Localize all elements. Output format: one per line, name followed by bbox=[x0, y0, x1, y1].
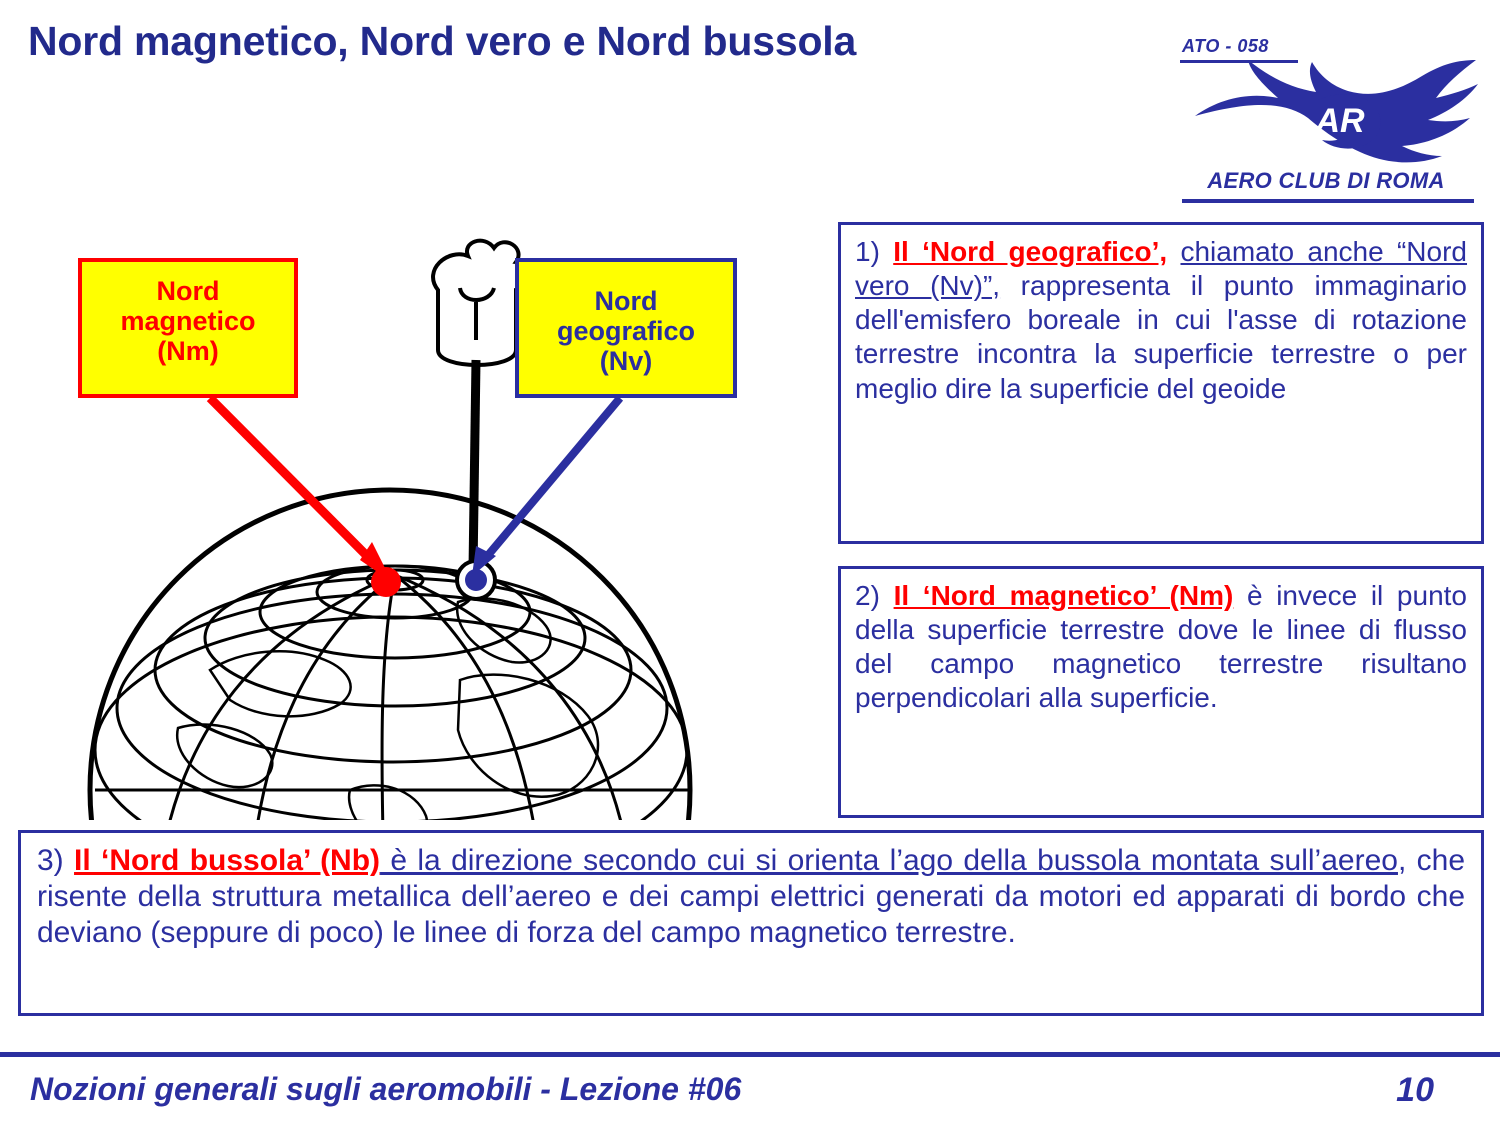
globe-diagram: Nord magnetico (Nm) Nord geografico (Nv) bbox=[60, 230, 820, 820]
pointer-geographic bbox=[472, 398, 620, 576]
logo-block: ATO - 058 AR AERO CLUB DI ROMA bbox=[1172, 18, 1482, 208]
slide: Nord magnetico, Nord vero e Nord bussola… bbox=[0, 0, 1500, 1125]
logo-rule bbox=[1182, 199, 1474, 203]
textbox-3-paragraph: 3) Il ‘Nord bussola’ (Nb) è la direzione… bbox=[37, 843, 1465, 951]
textbox-1-highlight: Il ‘Nord geografico’, bbox=[893, 236, 1167, 267]
footer: Nozioni generali sugli aeromobili - Lezi… bbox=[0, 1052, 1500, 1125]
svg-text:AR: AR bbox=[1314, 102, 1365, 140]
callout-nv-line1: Nord bbox=[519, 286, 733, 316]
callout-nm-line3: (Nm) bbox=[82, 336, 294, 366]
ato-code-label: ATO - 058 bbox=[1182, 36, 1269, 57]
footer-course-label: Nozioni generali sugli aeromobili - Lezi… bbox=[30, 1071, 741, 1108]
callout-nord-geografico: Nord geografico (Nv) bbox=[515, 258, 737, 398]
callout-nm-line2: magnetico bbox=[82, 306, 294, 336]
textbox-3-number: 3) bbox=[37, 844, 64, 877]
page-title: Nord magnetico, Nord vero e Nord bussola bbox=[28, 18, 856, 65]
textbox-nord-geografico: 1) Il ‘Nord geografico’, chiamato anche … bbox=[838, 222, 1484, 544]
textbox-2-highlight: Il ‘Nord magnetico’ (Nm) bbox=[894, 580, 1234, 611]
textbox-1-paragraph: 1) Il ‘Nord geografico’, chiamato anche … bbox=[855, 235, 1467, 406]
callout-nm-line1: Nord bbox=[82, 276, 294, 306]
textbox-nord-magnetico: 2) Il ‘Nord magnetico’ (Nm) è invece il … bbox=[838, 566, 1484, 818]
eagle-logo-icon: AR bbox=[1190, 58, 1480, 168]
textbox-2-paragraph: 2) Il ‘Nord magnetico’ (Nm) è invece il … bbox=[855, 579, 1467, 716]
textbox-2-number: 2) bbox=[855, 580, 880, 611]
textbox-1-number: 1) bbox=[855, 236, 880, 267]
footer-page-number: 10 bbox=[1396, 1071, 1434, 1110]
club-name-label: AERO CLUB DI ROMA bbox=[1176, 168, 1476, 194]
callout-nv-line2: geografico bbox=[519, 316, 733, 346]
textbox-3-highlight: Il ‘Nord bussola’ (Nb) bbox=[74, 844, 380, 877]
textbox-3-underlined: è la direzione secondo cui si orienta l’… bbox=[380, 844, 1398, 877]
textbox-nord-bussola: 3) Il ‘Nord bussola’ (Nb) è la direzione… bbox=[18, 830, 1484, 1016]
callout-nord-magnetico: Nord magnetico (Nm) bbox=[78, 258, 298, 398]
callout-nv-line3: (Nv) bbox=[519, 346, 733, 376]
